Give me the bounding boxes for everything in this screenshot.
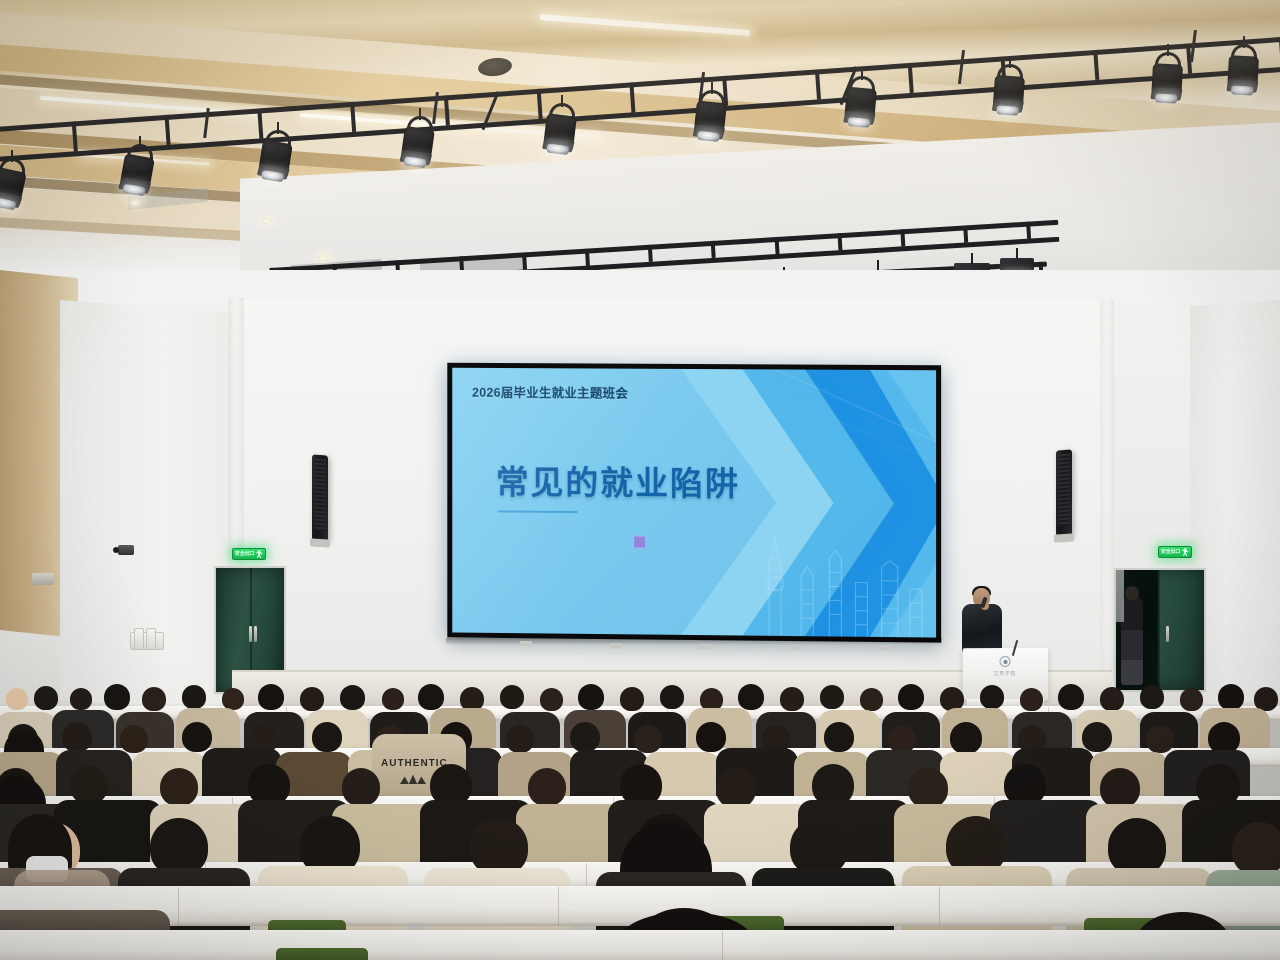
- wall-light-fixture: [32, 573, 54, 585]
- exit-sign-label: 安全出口: [1161, 550, 1180, 555]
- exit-sign-label: 安全出口: [235, 552, 254, 557]
- audience-head: [528, 768, 566, 806]
- audience-head: [222, 688, 244, 710]
- wall-speaker-left: [312, 454, 328, 541]
- wall-control-panel: [134, 628, 144, 650]
- slide-kicker: 2026届毕业生就业主题班会: [472, 382, 628, 402]
- audience-head: [1218, 684, 1244, 710]
- audience-head: [300, 687, 324, 711]
- audience-head: [1140, 685, 1164, 709]
- chair-back: [276, 948, 368, 960]
- audience-head: [980, 685, 1004, 709]
- audience-head: [70, 766, 108, 804]
- wall-speaker-right: [1056, 449, 1072, 536]
- audience-head: [696, 722, 726, 752]
- audience-area: AUTHENTIC: [0, 672, 1280, 960]
- audience-head: [738, 684, 764, 710]
- audience-head: [908, 768, 948, 808]
- led-screen: 2026届毕业生就业主题班会 常见的就业陷阱 ────: [447, 363, 941, 643]
- wall-control-panel: [146, 628, 156, 650]
- audience-head: [500, 685, 524, 709]
- audience-head: [1180, 688, 1203, 711]
- audience-head: [142, 687, 166, 711]
- exit-sign-left: 安全出口: [232, 548, 266, 560]
- running-person-icon: [256, 550, 263, 558]
- audience-head: [634, 725, 662, 753]
- security-camera-icon: [118, 545, 134, 555]
- audience-head: [898, 684, 924, 710]
- audience-head: [578, 684, 604, 710]
- side-wall-left: [60, 300, 235, 713]
- audience-head: [104, 684, 130, 710]
- presenter: [962, 588, 1002, 654]
- audience-head: [824, 722, 854, 752]
- audience-head: [34, 686, 58, 710]
- audience-head: [70, 688, 92, 710]
- audience-head: [342, 768, 380, 806]
- audience-head: [62, 722, 92, 752]
- slide-watermark: ────: [898, 623, 928, 633]
- audience-head: [570, 722, 600, 752]
- audience-head: [820, 685, 844, 709]
- audience-head: [1146, 725, 1174, 753]
- audience-head: [716, 768, 756, 808]
- running-person-icon: [1182, 548, 1189, 556]
- podium-emblem: [1000, 656, 1011, 667]
- audience-head: [182, 685, 206, 709]
- audience-head: [860, 688, 883, 711]
- audience-head: [1100, 687, 1124, 711]
- wall-pillar-right: [1100, 300, 1114, 682]
- doorway-light: [1116, 570, 1124, 622]
- audience-head: [120, 725, 148, 753]
- audience-head: [340, 685, 365, 710]
- audience-head: [312, 722, 342, 752]
- audience-head: [258, 684, 284, 710]
- audience-head: [950, 722, 982, 754]
- audience-head: [1082, 722, 1112, 752]
- audience-head: [1232, 822, 1280, 876]
- city-skyline-graphic: [743, 515, 934, 637]
- desk-row: [0, 930, 1280, 960]
- audience-head: [1058, 684, 1084, 710]
- audience-head: [506, 725, 534, 753]
- slide-marker: [633, 535, 646, 548]
- audience-head: [1020, 688, 1043, 711]
- audience-head: [160, 768, 198, 806]
- garment-logo-icon: [400, 772, 426, 784]
- presentation-slide: 2026届毕业生就业主题班会 常见的就业陷阱 ────: [452, 368, 936, 638]
- audience-head: [6, 688, 28, 710]
- slide-title: 常见的就业陷阱: [496, 456, 740, 506]
- audience-head: [418, 684, 444, 710]
- auditorium-photo: 安全出口 安全出口: [0, 0, 1280, 960]
- audience-head: [382, 688, 404, 710]
- audience-head: [1100, 768, 1140, 808]
- audience-head: [780, 687, 804, 711]
- audience-head: [620, 687, 644, 711]
- audience-head: [182, 722, 212, 752]
- audience-head: [540, 688, 563, 711]
- audience-head: [660, 685, 684, 709]
- audience-torso: [516, 804, 622, 866]
- exit-sign-right: 安全出口: [1158, 546, 1192, 558]
- audience-head: [888, 725, 916, 753]
